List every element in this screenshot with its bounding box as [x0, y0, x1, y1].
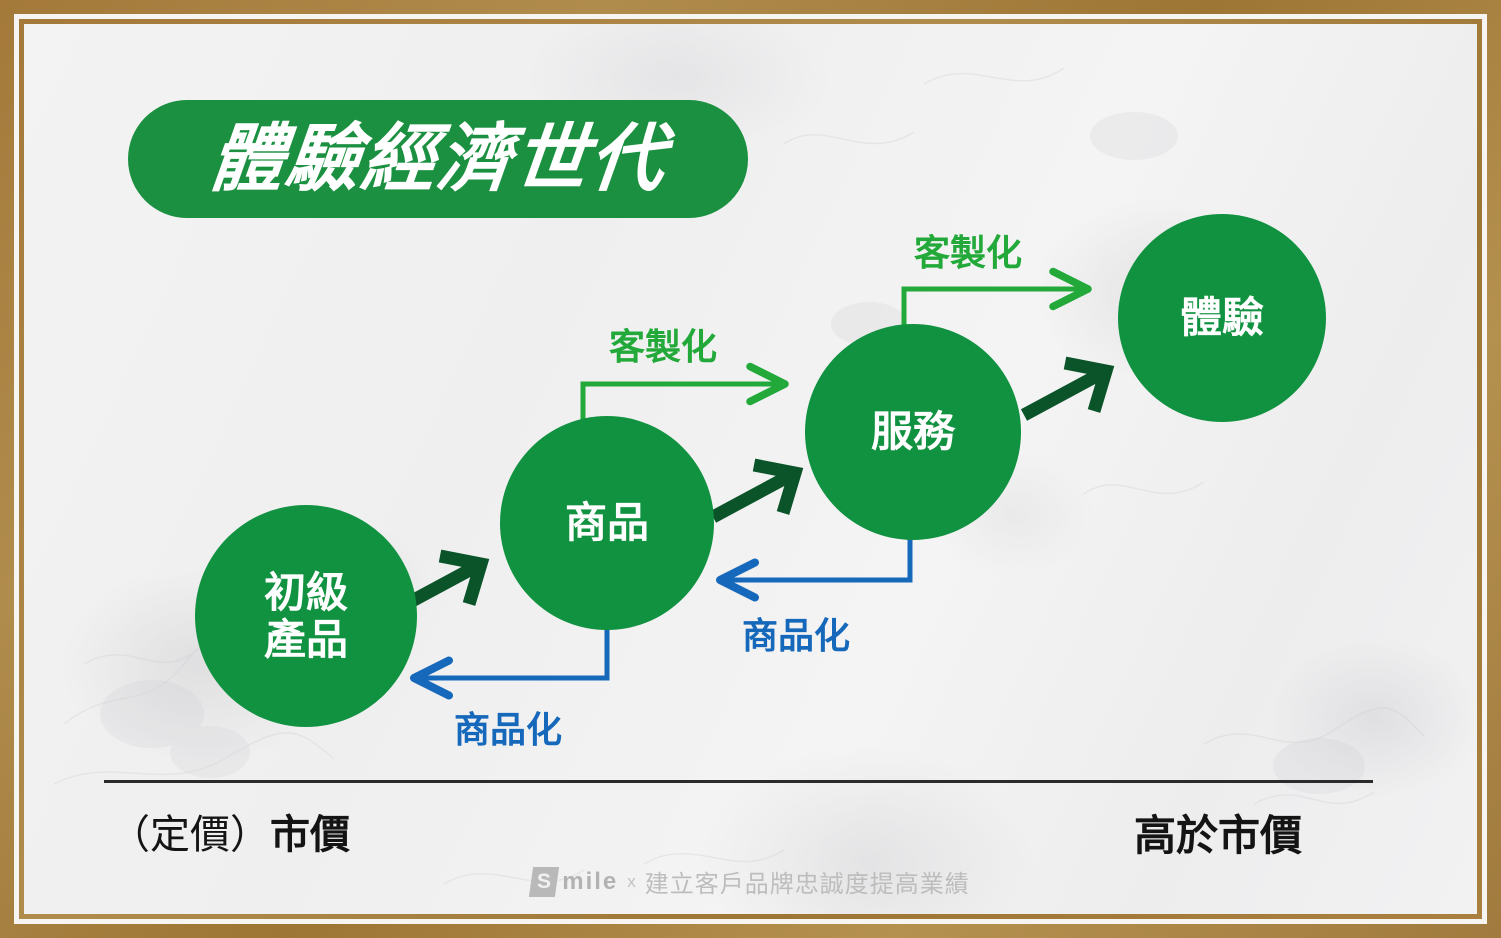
smile-logo-letter: S [537, 870, 551, 894]
node-primary-product-label: 初級 產品 [264, 569, 348, 663]
node-service[interactable]: 服務 [805, 324, 1021, 540]
footer-watermark: S mile x 建立客戶品牌忠誠度提高業績 [24, 864, 1477, 899]
marble-stage: 客製化 客製化 商品化 商品化 [24, 24, 1477, 914]
label-customization-1: 客製化 [609, 326, 717, 367]
arrow-commoditization-1 [418, 619, 607, 678]
axis-label-right: 高於市價 [1134, 802, 1302, 863]
node-goods[interactable]: 商品 [500, 416, 714, 630]
axis-label-left-strong: 市價 [270, 813, 350, 857]
price-axis-line [104, 780, 1373, 783]
label-customization-2: 客製化 [914, 232, 1022, 273]
label-commoditization-1: 商品化 [454, 709, 562, 750]
axis-label-left-paren: （定價） [110, 813, 270, 857]
footer-separator: x [627, 872, 636, 892]
footer-brand: mile [562, 868, 618, 896]
label-commoditization-2: 商品化 [742, 615, 850, 656]
arrow-upgrade-3 [1024, 363, 1106, 415]
node-goods-label: 商品 [565, 499, 649, 546]
node-experience-label: 體驗 [1180, 294, 1264, 341]
smile-logo-icon: S [529, 867, 559, 897]
poster-canvas: 客製化 客製化 商品化 商品化 [0, 0, 1501, 938]
arrow-commoditization-2 [724, 528, 910, 580]
node-experience[interactable]: 體驗 [1118, 214, 1326, 422]
node-primary-product[interactable]: 初級 產品 [195, 505, 417, 727]
arrow-upgrade-2 [713, 465, 795, 517]
node-service-label: 服務 [871, 408, 955, 455]
footer-tagline: 建立客戶品牌忠誠度提高業績 [645, 864, 970, 899]
axis-label-left: （定價）市價 [110, 802, 350, 860]
